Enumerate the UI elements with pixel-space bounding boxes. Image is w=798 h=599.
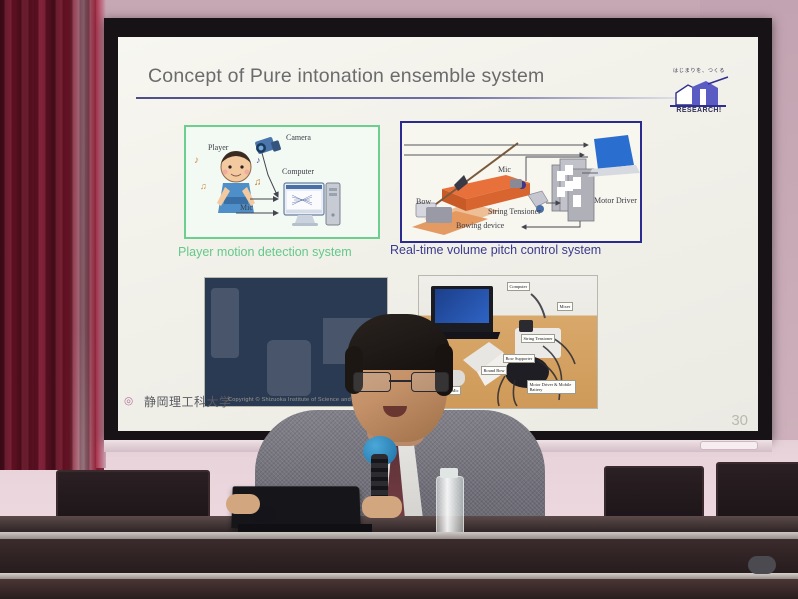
logo-word: RESEARCH! [656,107,742,114]
left-diagram-box: ♪ ♫ ♪ ♫ Player Camera [184,125,380,239]
left-box-caption: Player motion detection system [178,245,352,259]
photo-label-computer: Computer [507,282,530,291]
photo-label-mixer: Mixer [557,302,573,311]
right-diagram-box: Bow Mic String Tensioner Bowing device M… [400,121,642,243]
title-underline [136,97,714,99]
label-bowing-device: Bowing device [456,221,504,230]
label-motor-driver: Motor Driver [594,197,637,206]
left-box-arrows [186,127,378,237]
right-box-caption: Real-time volume pitch control system [390,243,601,257]
logo-tagline: はじまりを、つくる [656,67,742,74]
label-bow: Bow [416,197,431,206]
label-mic-right: Mic [498,165,511,174]
conference-room-scene: Concept of Pure intonation ensemble syst… [0,0,798,599]
label-string-tensioner: String Tensioner [488,207,541,216]
sist-research-logo: はじまりを、つくる RESEARCH! [656,67,742,119]
left-hand [226,494,260,514]
page-title: Concept of Pure intonation ensemble syst… [148,65,544,88]
right-hand [362,496,402,518]
thermal-object-left [211,288,239,358]
slide-page-number: 30 [731,412,748,429]
sist-mark-icon: ◎ [124,395,133,407]
glasses-bridge [389,380,411,382]
speaker-glasses [353,372,447,390]
glasses-lens-left [353,372,391,392]
glasses-lens-right [411,372,449,392]
water-bottle-cap [440,468,458,478]
desk-base [0,579,798,599]
footer-university: 静岡理工科大学 [144,393,232,410]
water-bottle[interactable] [436,476,464,540]
bowing-device-diagram [402,123,640,241]
window-curtain [0,0,104,470]
desk-front-panel [0,539,798,577]
logo-mark-icon [656,75,742,109]
screen-pull-knob[interactable] [700,441,758,450]
second-mouse[interactable] [748,556,776,574]
